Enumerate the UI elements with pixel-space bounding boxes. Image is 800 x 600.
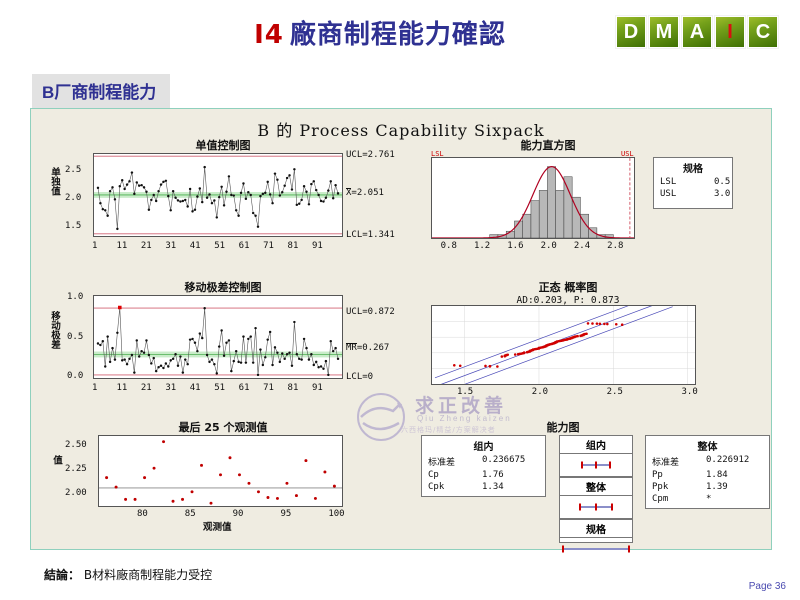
pp-xtick-0: 1.5 xyxy=(457,387,473,397)
mr-svg-xtick-6: 61 xyxy=(239,383,250,393)
mr-svg-xtick-9: 91 xyxy=(312,383,323,393)
ic-svg-xtick-2: 21 xyxy=(141,241,152,251)
page-title-index: I4 xyxy=(254,20,284,50)
i-chart-svg xyxy=(94,154,342,236)
last25-plot xyxy=(98,435,343,507)
ic-svg-xtick-9: 91 xyxy=(312,241,323,251)
ic-svg-xtick-8: 81 xyxy=(288,241,299,251)
histogram-title: 能力直方图 xyxy=(333,137,763,153)
overall-row-ppk: Ppk1.39 xyxy=(646,481,769,493)
i-chart-ylabel: 单独值 xyxy=(47,167,61,196)
capability-intervals: 组内 整体 规格 xyxy=(559,435,633,543)
section-heading-prefix: B xyxy=(42,83,54,102)
normal-prob-plot: 正态 概率图 AD:0.203, P: 0.873 1.52.02.53.0 xyxy=(413,279,763,411)
last25-title: 最后 25 个观测值 xyxy=(43,419,403,435)
hist-xtick-2: 1.6 xyxy=(507,241,523,251)
mr-chart-title: 移动极差控制图 xyxy=(43,279,403,295)
within-row-cpk: Cpk1.34 xyxy=(422,481,545,493)
spec-row-lsl: LSL0.5 xyxy=(654,176,732,188)
ic-svg-xtick-3: 31 xyxy=(165,241,176,251)
interval-bar-spec xyxy=(560,538,632,560)
overall-row-pp: Pp1.84 xyxy=(646,469,769,481)
dmaic-cell-d[interactable]: D xyxy=(616,16,646,48)
interval-header-within: 组内 xyxy=(560,436,632,454)
mr-chart-center-label: MR=0.267 xyxy=(346,343,389,353)
last25-chart: 最后 25 个观测值 值 2.002.252.50 80859095100 观测… xyxy=(43,419,403,544)
l25-xtick-4: 100 xyxy=(328,509,344,519)
overall-row-cpm: Cpm* xyxy=(646,493,769,505)
ic-svg-ytick-0: 1.5 xyxy=(65,221,81,231)
mr-svg-xtick-5: 51 xyxy=(214,383,225,393)
sixpack-panel: B 的 Process Capability Sixpack 单值控制图 单独值… xyxy=(30,108,772,550)
pp-xtick-2: 2.5 xyxy=(607,387,623,397)
l25-xtick-2: 90 xyxy=(233,509,244,519)
mr-chart-svg xyxy=(94,296,342,378)
capability-title: 能力图 xyxy=(363,419,763,435)
dmaic-cell-i[interactable]: I xyxy=(715,16,745,48)
l25-ytick-1: 2.25 xyxy=(65,464,87,474)
ic-svg-xtick-7: 71 xyxy=(263,241,274,251)
interval-header-overall: 整体 xyxy=(560,477,632,496)
hist-xtick-3: 2.0 xyxy=(541,241,557,251)
ic-svg-xtick-1: 11 xyxy=(116,241,127,251)
l25-xtick-3: 95 xyxy=(280,509,291,519)
conclusion: 結論： B材料廠商制程能力受控 xyxy=(44,566,212,583)
section-heading: B厂商制程能力 xyxy=(32,74,170,108)
histogram-svg xyxy=(432,158,634,238)
mr-svg-xtick-4: 41 xyxy=(190,383,201,393)
ic-svg-ytick-2: 2.5 xyxy=(65,165,81,175)
within-row-cp: Cp1.76 xyxy=(422,469,545,481)
mr-svg-ytick-1: 0.5 xyxy=(67,332,83,342)
ic-svg-xtick-5: 51 xyxy=(214,241,225,251)
within-stats-box: 组内 标准差0.236675 Cp1.76 Cpk1.34 xyxy=(421,435,546,497)
mr-svg-ytick-2: 1.0 xyxy=(67,292,83,302)
mr-svg-xtick-1: 11 xyxy=(116,383,127,393)
conclusion-text: B材料廠商制程能力受控 xyxy=(84,568,212,582)
i-chart: 单值控制图 单独值 1.52.02.5 1112131415161718191 … xyxy=(43,137,403,267)
overall-stats-header: 整体 xyxy=(646,436,769,454)
pp-xtick-3: 3.0 xyxy=(682,387,698,397)
hist-xtick-4: 2.4 xyxy=(574,241,590,251)
mr-chart-lcl-label: LCL=0 xyxy=(346,372,373,382)
within-row-sd: 标准差0.236675 xyxy=(422,454,545,469)
dmaic-cell-c[interactable]: C xyxy=(748,16,778,48)
i-chart-center-label: X=2.051 xyxy=(346,188,384,198)
prob-plot-title: 正态 概率图 xyxy=(373,279,763,295)
page-title-text: 廠商制程能力確認 xyxy=(290,20,506,50)
mr-svg-xtick-0: 1 xyxy=(92,383,97,393)
interval-bar-within xyxy=(560,454,632,477)
ic-svg-xtick-4: 41 xyxy=(190,241,201,251)
l25-ytick-2: 2.50 xyxy=(65,440,87,450)
histogram-plot xyxy=(431,157,635,239)
mr-chart: 移动极差控制图 移动极差 0.00.51.0 11121314151617181… xyxy=(43,279,403,411)
dmaic-cell-a[interactable]: A xyxy=(682,16,712,48)
l25-xtick-0: 80 xyxy=(137,509,148,519)
mr-svg-ytick-0: 0.0 xyxy=(67,371,83,381)
l25-xtick-1: 85 xyxy=(185,509,196,519)
section-heading-text: 厂商制程能力 xyxy=(54,83,156,103)
mr-svg-xtick-2: 21 xyxy=(141,383,152,393)
prob-plot-area xyxy=(431,305,696,385)
interval-header-spec: 规格 xyxy=(560,519,632,538)
mr-chart-plot xyxy=(93,295,343,379)
last25-ylabel: 值 xyxy=(49,455,63,465)
spec-row-usl: USL3.0 xyxy=(654,188,732,200)
mr-svg-xtick-8: 81 xyxy=(288,383,299,393)
i-chart-plot xyxy=(93,153,343,237)
ic-svg-xtick-6: 61 xyxy=(239,241,250,251)
page-number: Page 36 xyxy=(749,581,786,592)
hist-xtick-0: 0.8 xyxy=(441,241,457,251)
within-stats-header: 组内 xyxy=(422,436,545,454)
mr-chart-ylabel: 移动极差 xyxy=(47,311,61,349)
dmaic-cell-m[interactable]: M xyxy=(649,16,679,48)
spec-limits-box: 规格 LSL0.5 USL3.0 xyxy=(653,157,733,209)
l25-ytick-0: 2.00 xyxy=(65,488,87,498)
conclusion-label: 結論： xyxy=(44,568,80,582)
overall-row-sd: 标准差0.226912 xyxy=(646,454,769,469)
last25-xlabel: 观测值 xyxy=(203,519,232,533)
i-chart-lcl-label: LCL=1.341 xyxy=(346,230,395,240)
spec-box-title: 规格 xyxy=(654,158,732,176)
ic-svg-ytick-1: 2.0 xyxy=(65,193,81,203)
prob-plot-svg xyxy=(432,306,695,384)
mr-svg-xtick-3: 31 xyxy=(165,383,176,393)
ic-svg-xtick-0: 1 xyxy=(92,241,97,251)
pp-xtick-1: 2.0 xyxy=(532,387,548,397)
hist-xtick-1: 1.2 xyxy=(474,241,490,251)
overall-stats-box: 整体 标准差0.226912 Pp1.84 Ppk1.39 Cpm* xyxy=(645,435,770,509)
mr-chart-ucl-label: UCL=0.872 xyxy=(346,307,395,317)
last25-svg xyxy=(99,436,342,506)
dmaic-phase-bar: D M A I C xyxy=(616,16,778,48)
interval-bar-overall xyxy=(560,496,632,519)
hist-xtick-5: 2.8 xyxy=(607,241,623,251)
capability-summary: 能力图 组内 标准差0.236675 Cp1.76 Cpk1.34 组内 整体 … xyxy=(413,419,763,544)
mr-svg-xtick-7: 71 xyxy=(263,383,274,393)
capability-histogram: 能力直方图 LSL USL 0.81.21.62.02.42.8 规格 LSL0… xyxy=(413,137,763,267)
